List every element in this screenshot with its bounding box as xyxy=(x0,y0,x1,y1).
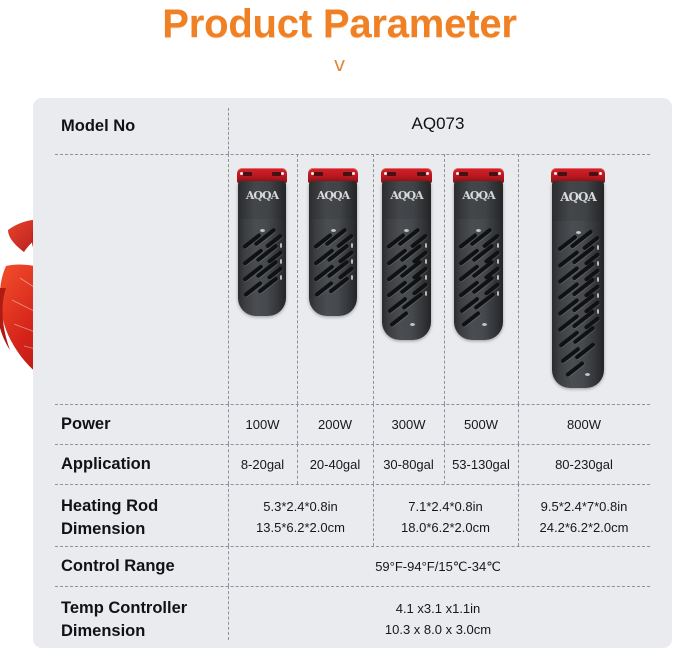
page-title: Product Parameter xyxy=(0,2,679,47)
cell-rod-dim-3-in: 9.5*2.4*7*0.8in xyxy=(518,497,650,516)
row-label-application: Application xyxy=(61,453,241,476)
cell-power-300w: 300W xyxy=(373,415,444,434)
cell-application-4: 53-130gal xyxy=(444,455,518,474)
column-divider xyxy=(373,154,374,404)
cell-power-800w: 800W xyxy=(518,415,650,434)
cell-rod-dim-3-cm: 24.2*6.2*2.0cm xyxy=(518,518,650,537)
table-row-model-no: Model No AQ073 xyxy=(33,98,672,154)
cell-application-1: 8-20gal xyxy=(228,455,297,474)
cell-rod-dim-2-in: 7.1*2.4*0.8in xyxy=(373,497,518,516)
cell-control-range-value: 59°F-94°F/15℃-34℃ xyxy=(228,557,648,576)
row-label-line2: Dimension xyxy=(61,620,241,643)
cell-temp-ctrl-dim-cm: 10.3 x 8.0 x 3.0cm xyxy=(228,620,648,639)
row-label-power: Power xyxy=(61,413,241,436)
cell-application-5: 80-230gal xyxy=(518,455,650,474)
cell-rod-dim-1-cm: 13.5*6.2*2.0cm xyxy=(228,518,373,537)
row-label-line1: Heating Rod xyxy=(61,495,241,518)
brand-logo: AQQA xyxy=(309,189,357,202)
cell-rod-dim-1-in: 5.3*2.4*0.8in xyxy=(228,497,373,516)
cell-power-100w: 100W xyxy=(228,415,297,434)
heater-body: AQQA xyxy=(238,181,286,316)
table-row-power: Power 100W 200W 300W 500W 800W xyxy=(33,404,672,444)
table-row-temp-controller-dimension: Temp Controller Dimension 4.1 x3.1 x1.1i… xyxy=(33,586,672,648)
heater-image-300w: AQQA xyxy=(381,168,432,340)
chevron-down-icon: v xyxy=(0,52,679,76)
cell-rod-dim-2-cm: 18.0*6.2*2.0cm xyxy=(373,518,518,537)
brand-logo: AQQA xyxy=(552,190,604,204)
heater-image-200w: AQQA xyxy=(308,168,358,316)
brand-logo: AQQA xyxy=(382,189,431,202)
heater-body: AQQA xyxy=(454,181,503,340)
cell-temp-ctrl-dim-in: 4.1 x3.1 x1.1in xyxy=(228,599,648,618)
cell-power-200w: 200W xyxy=(297,415,373,434)
heater-image-800w: AQQA xyxy=(551,168,605,388)
column-divider xyxy=(228,108,229,154)
column-divider xyxy=(518,154,519,404)
row-label-model-no: Model No xyxy=(61,115,241,138)
title-area: Product Parameter v xyxy=(0,0,679,92)
cell-model-no-value: AQ073 xyxy=(228,114,648,133)
row-label-temp-controller-dimension: Temp Controller Dimension xyxy=(61,597,241,643)
heater-image-500w: AQQA xyxy=(453,168,504,340)
brand-logo: AQQA xyxy=(238,189,286,202)
row-label-control-range: Control Range xyxy=(61,555,241,578)
column-divider xyxy=(444,154,445,404)
column-divider xyxy=(228,154,229,404)
table-row-application: Application 8-20gal 20-40gal 30-80gal 53… xyxy=(33,444,672,484)
brand-logo: AQQA xyxy=(454,189,503,202)
spec-table: Model No AQ073 Power 100W 200W 300W 500W… xyxy=(33,98,672,648)
heater-image-100w: AQQA xyxy=(237,168,287,316)
row-label-line1: Temp Controller xyxy=(61,597,241,620)
cell-power-500w: 500W xyxy=(444,415,518,434)
row-label-line2: Dimension xyxy=(61,518,241,541)
heater-body: AQQA xyxy=(552,181,604,388)
cell-application-3: 30-80gal xyxy=(373,455,444,474)
heater-body: AQQA xyxy=(309,181,357,316)
table-row-control-range: Control Range 59°F-94°F/15℃-34℃ xyxy=(33,546,672,586)
heater-body: AQQA xyxy=(382,181,431,340)
column-divider xyxy=(297,154,298,404)
row-label-heating-rod-dimension: Heating Rod Dimension xyxy=(61,495,241,541)
cell-application-2: 20-40gal xyxy=(297,455,373,474)
table-row-heating-rod-dimension: Heating Rod Dimension 5.3*2.4*0.8in 13.5… xyxy=(33,484,672,546)
